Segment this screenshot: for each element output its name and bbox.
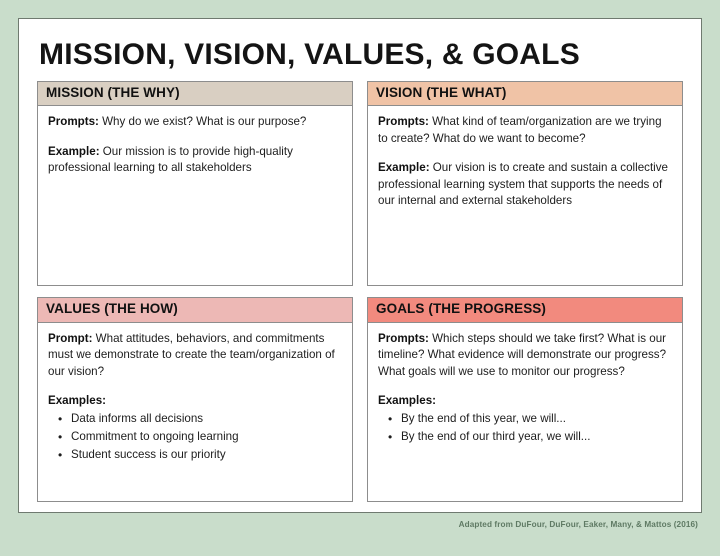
quadrant-header-goals: GOALS (THE PROGRESS)	[367, 297, 683, 322]
list-item: By the end of this year, we will...	[388, 411, 672, 428]
list-item: By the end of our third year, we will...	[388, 429, 672, 446]
block-prompts: Prompts: What kind of team/organization …	[378, 114, 672, 147]
block-lead: Prompts:	[378, 115, 429, 128]
block-examples: Examples: By the end of this year, we wi…	[378, 393, 672, 446]
quadrant-mission: MISSION (THE WHY) Prompts: Why do we exi…	[37, 81, 353, 286]
block-example: Example: Our mission is to provide high-…	[48, 144, 342, 177]
block-lead: Examples:	[48, 394, 106, 407]
quadrant-body-vision: Prompts: What kind of team/organization …	[367, 105, 683, 285]
content-card: MISSION, VISION, VALUES, & GOALS MISSION…	[18, 18, 702, 513]
block-prompts: Prompts: Why do we exist? What is our pu…	[48, 114, 342, 130]
quadrant-goals: GOALS (THE PROGRESS) Prompts: Which step…	[367, 297, 683, 502]
quadrant-header-values: VALUES (THE HOW)	[37, 297, 353, 322]
quadrant-vision: VISION (THE WHAT) Prompts: What kind of …	[367, 81, 683, 286]
list-item: Commitment to ongoing learning	[58, 429, 342, 446]
block-lead: Example:	[378, 161, 430, 174]
quadrant-body-values: Prompt: What attitudes, behaviors, and c…	[37, 322, 353, 502]
examples-list: By the end of this year, we will...By th…	[378, 411, 672, 446]
block-lead: Prompts:	[378, 332, 429, 345]
examples-list: Data informs all decisionsCommitment to …	[48, 411, 342, 463]
slide-canvas: MISSION, VISION, VALUES, & GOALS MISSION…	[0, 0, 720, 556]
block-lead: Example:	[48, 145, 100, 158]
quadrant-header-mission: MISSION (THE WHY)	[37, 81, 353, 106]
quadrant-body-mission: Prompts: Why do we exist? What is our pu…	[37, 105, 353, 285]
block-lead: Prompt:	[48, 332, 92, 345]
block-lead: Examples:	[378, 394, 436, 407]
block-prompt: Prompt: What attitudes, behaviors, and c…	[48, 331, 342, 380]
quadrant-header-vision: VISION (THE WHAT)	[367, 81, 683, 106]
block-example: Example: Our vision is to create and sus…	[378, 160, 672, 209]
quadrant-grid: MISSION (THE WHY) Prompts: Why do we exi…	[37, 81, 683, 503]
attribution-footer: Adapted from DuFour, DuFour, Eaker, Many…	[459, 520, 698, 529]
block-text: Why do we exist? What is our purpose?	[99, 115, 307, 128]
list-item: Data informs all decisions	[58, 411, 342, 428]
block-prompts: Prompts: Which steps should we take firs…	[378, 331, 672, 380]
block-examples: Examples: Data informs all decisionsComm…	[48, 393, 342, 464]
list-item: Student success is our priority	[58, 447, 342, 464]
title-wrap: MISSION, VISION, VALUES, & GOALS	[37, 35, 683, 81]
block-text: What attitudes, behaviors, and commitmen…	[48, 332, 335, 378]
quadrant-body-goals: Prompts: Which steps should we take firs…	[367, 322, 683, 502]
quadrant-values: VALUES (THE HOW) Prompt: What attitudes,…	[37, 297, 353, 502]
block-lead: Prompts:	[48, 115, 99, 128]
page-title: MISSION, VISION, VALUES, & GOALS	[39, 39, 681, 71]
